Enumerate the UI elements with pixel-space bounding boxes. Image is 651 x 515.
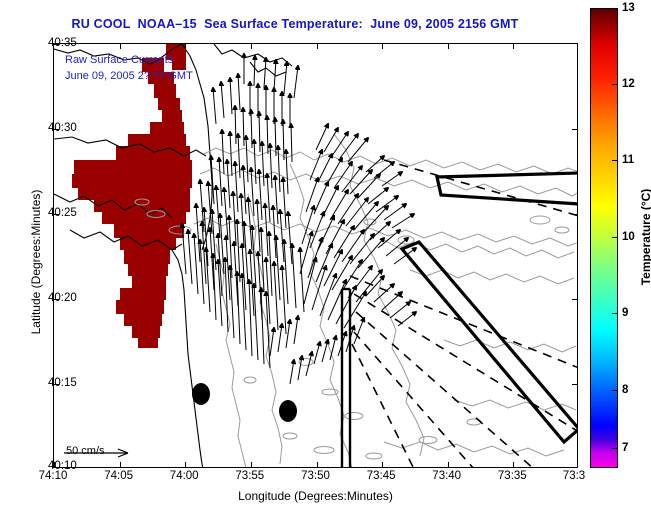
x-tick-label: 73:35 (498, 470, 527, 482)
colorbar-label: 7 (622, 442, 628, 454)
station-markers (192, 383, 297, 422)
y-axis-title: Latitude (Degrees:Minutes) (29, 147, 43, 377)
x-tick-top (251, 44, 252, 49)
colorbar-title: Temperature (°C) (639, 157, 651, 317)
y-tick-label: 40:15 (48, 377, 77, 389)
map-canvas (54, 44, 578, 468)
colorbar-tick (612, 84, 618, 85)
colorbar-label: 12 (622, 78, 635, 90)
sst-figure: RU COOL NOAA–15 Sea Surface Temperature:… (0, 0, 651, 515)
y-tick-text: 40:30 (48, 122, 77, 134)
map-plot-area[interactable]: Raw Surface Currents June 09, 2005 2?:??… (53, 43, 578, 468)
x-tick-label: 73:55 (235, 470, 264, 482)
y-tick-right (572, 129, 577, 130)
y-tick-right (572, 299, 577, 300)
station-marker (279, 400, 297, 422)
annotation-line-2: June 09, 2005 2?:?? GMT (65, 68, 193, 84)
y-tick-right (572, 384, 577, 385)
colorbar-label: 8 (622, 384, 628, 396)
y-tick-right (572, 214, 577, 215)
y-tick-label: 40:35 (48, 37, 77, 49)
scale-arrow-icon (62, 445, 140, 461)
y-tick-text: 40:20 (48, 292, 77, 304)
colorbar-label: 10 (622, 231, 635, 243)
plot-annotation: Raw Surface Currents June 09, 2005 2?:??… (65, 52, 193, 84)
x-tick-label: 73:45 (367, 470, 396, 482)
x-tick-top (382, 44, 383, 49)
station-marker (192, 383, 210, 405)
y-tick-text: 40:10 (48, 460, 77, 472)
y-tick-label: 40:10 (48, 460, 77, 472)
colorbar-tick (612, 448, 618, 449)
x-tick-top (317, 44, 318, 49)
x-tick-label: 74:05 (104, 470, 133, 482)
temperature-colorbar[interactable] (590, 8, 618, 468)
y-tick-label: 40:20 (48, 292, 77, 304)
y-tick-text: 40:35 (48, 37, 77, 49)
vector-scale-legend: 50 cm/s (62, 445, 105, 457)
y-tick-text: 40:15 (48, 377, 77, 389)
x-tick (120, 462, 121, 467)
sst-warm-patch (72, 44, 192, 348)
x-tick (317, 462, 318, 467)
colorbar-tick (612, 390, 618, 391)
colorbar-tick (612, 237, 618, 238)
colorbar-tick (612, 8, 618, 9)
y-tick-label: 40:25 (48, 207, 77, 219)
x-tick (185, 462, 186, 467)
annotation-line-1: Raw Surface Currents (65, 52, 193, 68)
colorbar-label: 9 (622, 307, 628, 319)
figure-title: RU COOL NOAA–15 Sea Surface Temperature:… (0, 17, 590, 31)
colorbar-label: 13 (622, 2, 635, 14)
y-tick-text: 40:25 (48, 207, 77, 219)
y-tick-label: 40:30 (48, 122, 77, 134)
colorbar-label: 11 (622, 154, 634, 166)
x-tick-top (448, 44, 449, 49)
x-axis-title: Longitude (Degrees:Minutes) (53, 489, 578, 503)
x-tick (448, 462, 449, 467)
x-tick (382, 462, 383, 467)
x-tick (513, 462, 514, 467)
x-tick-label: 73:40 (432, 470, 461, 482)
x-tick-label: 74:00 (170, 470, 199, 482)
colorbar-tick (612, 160, 618, 161)
x-tick-top (120, 44, 121, 49)
x-tick-top (185, 44, 186, 49)
x-tick-label: 73:50 (301, 470, 330, 482)
x-tick-label: 73:3 (563, 470, 585, 482)
x-tick-top (513, 44, 514, 49)
colorbar-tick (612, 313, 618, 314)
x-tick (251, 462, 252, 467)
